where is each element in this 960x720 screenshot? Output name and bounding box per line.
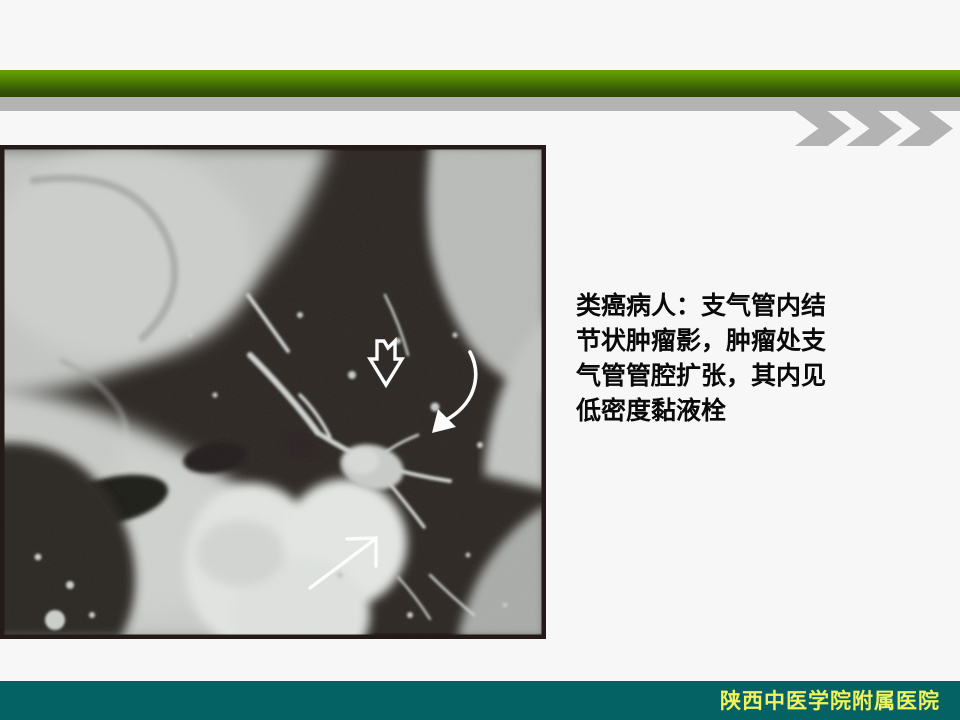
gray-accent-bar — [0, 97, 960, 111]
ct-image-frame — [0, 145, 546, 639]
slide-canvas: 类癌病人：支气管内结 节状肿瘤影，肿瘤处支 气管管腔扩张，其内见 低密度黏液栓 … — [0, 0, 960, 720]
green-accent-bar — [0, 70, 960, 97]
footer-institution-name: 陕西中医学院附属医院 — [720, 689, 940, 713]
chest-ct-axial-scan — [0, 145, 546, 639]
chevron-arrow-icon — [897, 111, 953, 146]
chevron-arrow-icon — [795, 111, 851, 146]
ct-caption-text: 类癌病人：支气管内结 节状肿瘤影，肿瘤处支 气管管腔扩张，其内见 低密度黏液栓 — [576, 288, 948, 428]
chevron-arrow-icon — [846, 111, 902, 146]
ct-image-render — [0, 145, 546, 639]
chevron-arrows — [795, 111, 960, 146]
